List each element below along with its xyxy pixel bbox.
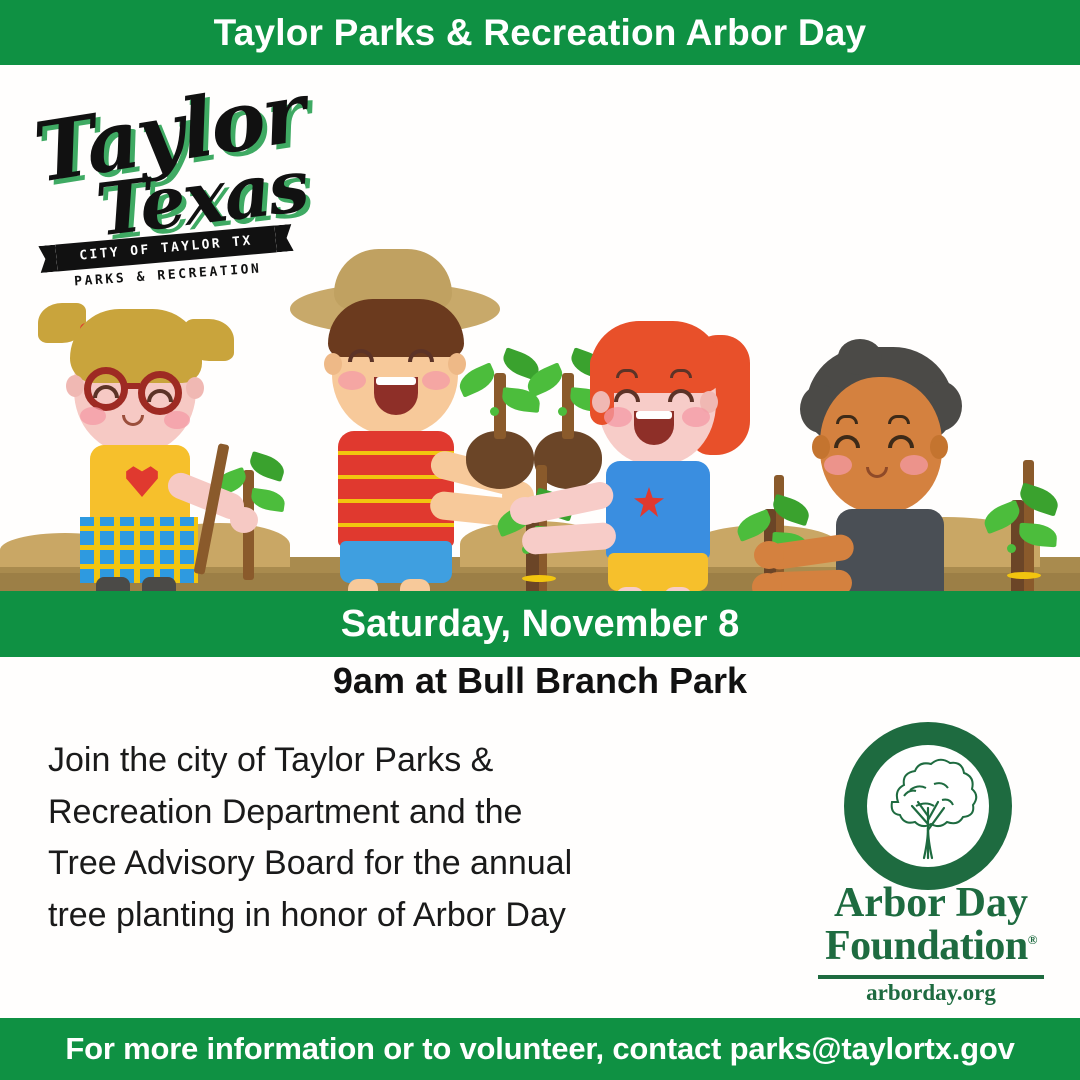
arbor-day-foundation-logo: Arbor Day Foundation® arborday.org (800, 722, 1062, 972)
description-line-4: tree planting in honor of Arbor Day (48, 890, 748, 942)
glasses-bridge (126, 383, 140, 389)
contact-info: For more information or to volunteer, co… (65, 1031, 1014, 1067)
shorts (608, 553, 708, 591)
brow-right (670, 369, 692, 378)
ear-right (930, 435, 948, 459)
tree-icon (868, 746, 988, 866)
page-title: Taylor Parks & Recreation Arbor Day (214, 12, 867, 54)
logo-url: arborday.org (800, 980, 1062, 1006)
leg (142, 577, 176, 591)
cheek-right (900, 455, 928, 475)
logo-wordmark-line1: Arbor Day (800, 882, 1062, 925)
cheek-right (422, 371, 450, 390)
hair (70, 309, 202, 383)
illustration-band: Taylor Texas CITY OF TAYLOR TX PARKS & R… (0, 65, 1080, 591)
sapling-bud (1007, 544, 1016, 553)
event-time-location: 9am at Bull Branch Park (0, 660, 1080, 702)
staked-sapling (985, 460, 1075, 591)
leg (96, 577, 130, 591)
cheek-left (604, 407, 632, 427)
brow-left (836, 415, 858, 424)
logo-divider (818, 975, 1044, 979)
description-line-3: Tree Advisory Board for the annual (48, 838, 748, 890)
description-line-2: Recreation Department and the (48, 787, 748, 839)
logo-wordmark-line2: Foundation® (800, 925, 1062, 968)
brow-right (888, 415, 910, 424)
cheek-left (80, 407, 106, 425)
stake-tie (522, 575, 556, 582)
ear-left (66, 375, 84, 397)
arm (521, 522, 617, 555)
sapling-trunk (494, 373, 506, 439)
description-line-1: Join the city of Taylor Parks & (48, 735, 748, 787)
cheek-right (682, 407, 710, 427)
registered-mark-icon: ® (1028, 932, 1037, 947)
cheek-left (338, 371, 366, 390)
brow-left (616, 369, 638, 378)
leg (400, 579, 430, 591)
ear-left (812, 435, 830, 459)
ear-right (186, 377, 204, 399)
tooth (376, 377, 416, 385)
shorts (340, 541, 452, 583)
sapling-leaf (523, 362, 567, 398)
cheek-right (164, 411, 190, 429)
sapling-bud (558, 407, 567, 416)
sapling-bud (490, 407, 499, 416)
tooth (636, 411, 672, 419)
date-bar: Saturday, November 8 (0, 591, 1080, 657)
stake-tie (1007, 572, 1041, 579)
header-bar: Taylor Parks & Recreation Arbor Day (0, 0, 1080, 65)
ear-left (324, 353, 342, 375)
hair (328, 299, 464, 357)
event-date: Saturday, November 8 (341, 603, 739, 646)
hand (230, 507, 258, 533)
footer-bar: For more information or to volunteer, co… (0, 1018, 1080, 1080)
logo-wordmark: Arbor Day Foundation® (800, 882, 1062, 968)
taylor-texas-logo: Taylor Texas CITY OF TAYLOR TX PARKS & R… (30, 85, 298, 285)
hand (754, 541, 784, 569)
poster-canvas: Taylor Parks & Recreation Arbor Day Tayl… (0, 0, 1080, 1080)
hair-curl (838, 339, 882, 375)
hand (510, 497, 540, 525)
event-description: Join the city of Taylor Parks & Recreati… (48, 735, 748, 942)
sapling-leaf (455, 362, 499, 398)
child-curly-hair-boy (788, 343, 998, 591)
child-blonde-girl (38, 295, 258, 591)
leg (348, 579, 378, 591)
skirt (80, 517, 198, 583)
cheek-left (824, 455, 852, 475)
striped-tank-top (338, 431, 454, 547)
logo-circle-ring (844, 722, 1012, 890)
tank-top (606, 461, 710, 559)
